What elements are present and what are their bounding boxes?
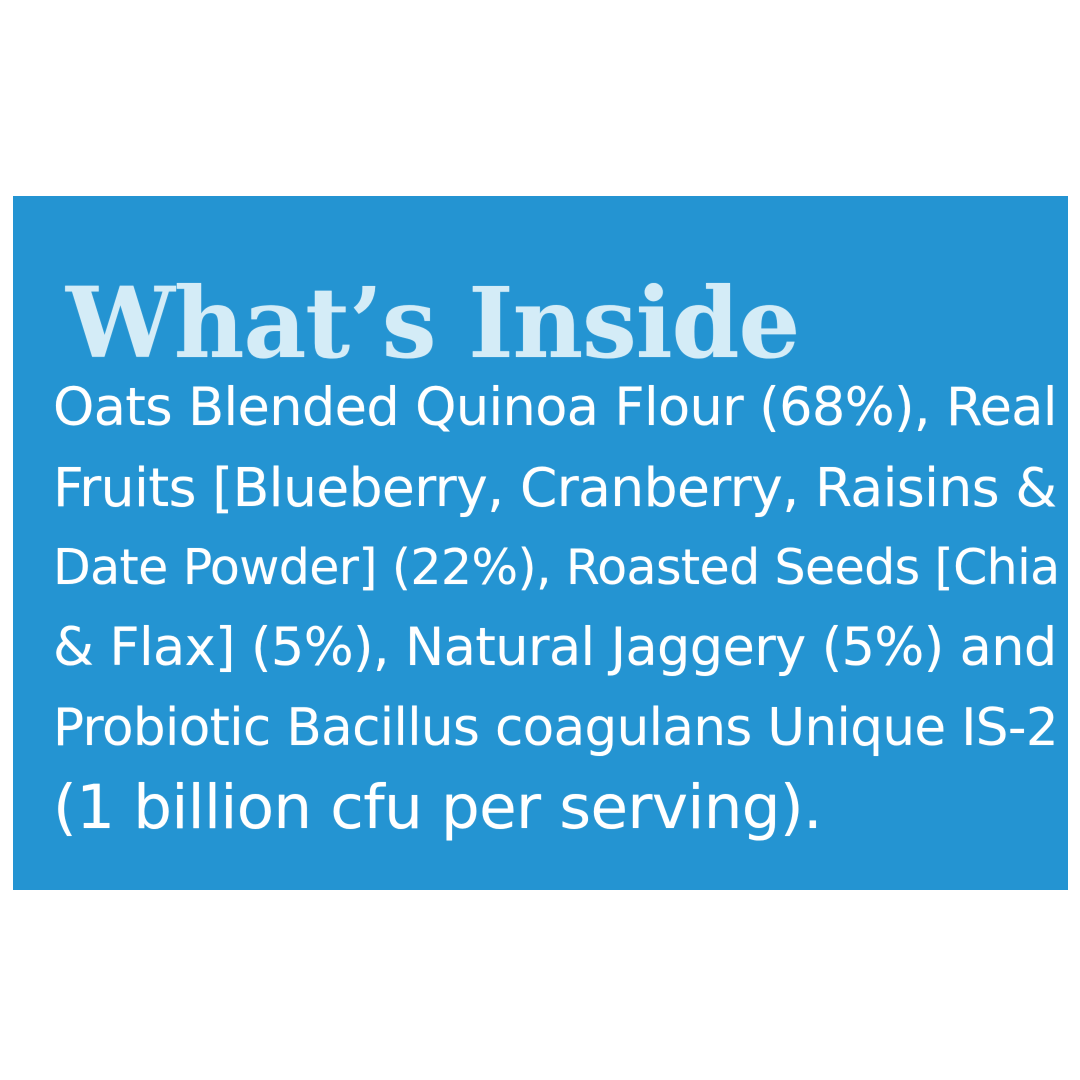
page-title: What’s Inside [66, 271, 799, 376]
ingredients-line-4: & Flax] (5%), Natural Jaggery (5%) and [53, 608, 1063, 688]
product-label-canvas: What’s Inside Oats Blended Quinoa Flour … [0, 0, 1080, 1080]
ingredients-line-6: (1 billion cfu per serving). [53, 768, 1063, 848]
whats-inside-panel: What’s Inside Oats Blended Quinoa Flour … [13, 196, 1068, 890]
ingredients-paragraph: Oats Blended Quinoa Flour (68%), Real Fr… [53, 368, 1063, 848]
ingredients-line-1: Oats Blended Quinoa Flour (68%), Real [53, 368, 1063, 448]
ingredients-line-2: Fruits [Blueberry, Cranberry, Raisins & [53, 448, 1063, 528]
ingredients-line-3: Date Powder] (22%), Roasted Seeds [Chia [53, 528, 1063, 608]
ingredients-line-5: Probiotic Bacillus coagulans Unique IS-2 [53, 688, 1063, 768]
